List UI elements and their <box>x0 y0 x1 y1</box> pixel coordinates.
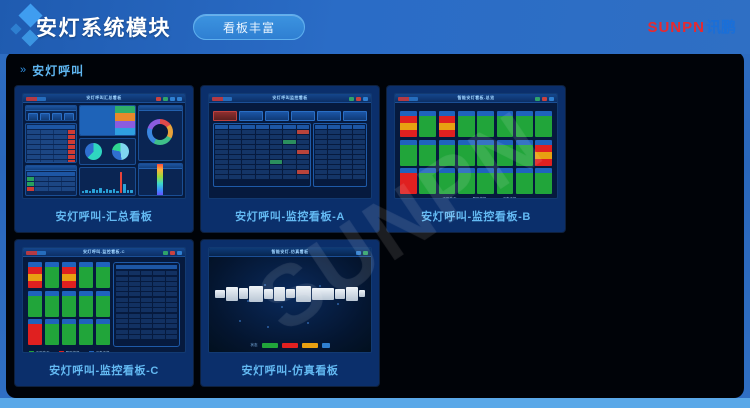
thumb-titlebar: 智能安灯-仿真看板 <box>209 248 371 257</box>
status-tile[interactable] <box>458 168 475 194</box>
status-tile[interactable] <box>79 291 93 317</box>
status-tile[interactable] <box>96 262 110 288</box>
status-tile[interactable] <box>419 140 436 166</box>
status-tile[interactable] <box>439 140 456 166</box>
thumb-body: 正常生产 异常停机 设备待机 <box>395 103 557 198</box>
status-tile[interactable] <box>497 140 514 166</box>
status-tile[interactable] <box>96 319 110 345</box>
status-tile[interactable] <box>497 168 514 194</box>
status-tile[interactable] <box>477 168 494 194</box>
legend-warning: 设备待机 <box>496 197 517 199</box>
status-tile[interactable] <box>45 262 59 288</box>
legend-warning: 设备待机 <box>89 351 110 354</box>
status-tile[interactable] <box>62 262 76 288</box>
status-tile[interactable] <box>45 291 59 317</box>
card-label-monitor-board-b: 安灯呼叫-监控看板-B <box>387 199 565 232</box>
card-summary-board[interactable]: 安灯呼叫汇总看板 <box>15 86 193 232</box>
section-header: » 安灯呼叫 <box>6 52 744 86</box>
thumbnail-monitor-board-b: 智能安灯看板-总览 <box>394 93 558 199</box>
status-tile[interactable] <box>439 168 456 194</box>
thumb-body: 正常生产 异常停机 设备待机 <box>23 257 185 352</box>
feature-pill-button[interactable]: 看板丰富 <box>193 14 305 40</box>
gradient-gauge <box>157 163 163 196</box>
brand-logo: SUNPN 讯鹏 <box>647 16 736 37</box>
tile-row <box>400 140 552 166</box>
app-page: 安灯系统模块 看板丰富 SUNPN 讯鹏 » 安灯呼叫 SUNPN 安灯呼叫汇总… <box>0 0 750 408</box>
card-label-summary-board: 安灯呼叫-汇总看板 <box>15 199 193 232</box>
thumb-titlebar: 安灯呼叫-监控看板-C <box>23 248 185 257</box>
status-tile-grid: 正常生产 异常停机 设备待机 <box>28 262 110 347</box>
status-tile[interactable] <box>535 111 552 137</box>
legend-normal: 正常生产 <box>436 197 457 199</box>
chevron-right-icon: » <box>20 65 26 76</box>
status-tile[interactable] <box>400 140 417 166</box>
detail-table <box>113 262 180 347</box>
legend-caption: 状态 <box>251 343 258 348</box>
thumb-title: 安灯呼叫-监控看板-C <box>83 249 125 255</box>
bar-chart <box>82 171 133 193</box>
status-legend: 正常生产 异常停机 设备待机 <box>397 194 555 199</box>
production-line-model <box>215 284 365 304</box>
card-label-monitor-board-a: 安灯呼叫-监控看板-A <box>201 199 379 232</box>
kpi-panel <box>25 105 77 121</box>
app-header: 安灯系统模块 看板丰富 SUNPN 讯鹏 <box>0 0 750 54</box>
status-tile[interactable] <box>79 262 93 288</box>
status-tile[interactable] <box>458 111 475 137</box>
filter-toolbar <box>211 109 369 123</box>
card-monitor-board-b[interactable]: 智能安灯看板-总览 <box>387 86 565 232</box>
logo-text-secondary: 讯鹏 <box>706 16 736 37</box>
radar-chart-panel <box>138 105 183 161</box>
card-monitor-board-a[interactable]: 安灯呼叫监控看板 <box>201 86 379 232</box>
status-tile[interactable] <box>439 111 456 137</box>
tile-row <box>28 262 110 288</box>
thumbnail-simulation-board: 智能安灯-仿真看板 <box>208 247 372 353</box>
main-table <box>213 123 311 187</box>
diamond-decoration-icon <box>8 4 54 52</box>
thumb-titlebar: 智能安灯看板-总览 <box>395 94 557 103</box>
status-tile[interactable] <box>419 111 436 137</box>
gauge-panel <box>138 163 183 196</box>
card-monitor-board-c[interactable]: 安灯呼叫-监控看板-C <box>15 240 193 386</box>
legend-alarm: 异常停机 <box>59 351 80 354</box>
legend-normal: 正常生产 <box>29 351 50 354</box>
bar-chart-panel <box>79 167 136 196</box>
thumb-title: 安灯呼叫监控看板 <box>272 95 307 101</box>
tile-row <box>400 168 552 194</box>
status-table-panel <box>25 165 77 196</box>
status-tile[interactable] <box>516 168 533 194</box>
status-tile[interactable] <box>96 291 110 317</box>
status-tile[interactable] <box>400 168 417 194</box>
tile-row <box>28 319 110 345</box>
status-tile[interactable] <box>45 319 59 345</box>
donut-chart <box>147 119 173 145</box>
status-tile[interactable] <box>516 111 533 137</box>
status-tile[interactable] <box>28 291 42 317</box>
status-tile[interactable] <box>535 140 552 166</box>
card-label-monitor-board-c: 安灯呼叫-监控看板-C <box>15 353 193 386</box>
tile-row <box>400 111 552 137</box>
thumb-titlebar: 安灯呼叫监控看板 <box>209 94 371 103</box>
side-table <box>313 123 367 187</box>
thumbnail-summary-board: 安灯呼叫汇总看板 <box>22 93 186 199</box>
thumb-title: 安灯呼叫汇总看板 <box>86 95 121 101</box>
status-tile[interactable] <box>497 111 514 137</box>
thumb-titlebar: 安灯呼叫汇总看板 <box>23 94 185 103</box>
status-tile[interactable] <box>79 319 93 345</box>
status-tile[interactable] <box>516 140 533 166</box>
treemap-panel <box>79 105 136 136</box>
legend-alarm: 异常停机 <box>466 197 487 199</box>
simulation-legend: 状态 <box>209 343 371 348</box>
thumb-title: 智能安灯看板-总览 <box>458 95 495 101</box>
status-tile[interactable] <box>28 319 42 345</box>
content-stage: » 安灯呼叫 SUNPN 安灯呼叫汇总看板 <box>6 52 744 398</box>
status-tile[interactable] <box>62 291 76 317</box>
status-tile[interactable] <box>62 319 76 345</box>
alarm-table-panel <box>25 123 77 163</box>
card-grid: 安灯呼叫汇总看板 <box>6 86 744 386</box>
status-tile[interactable] <box>419 168 436 194</box>
tile-row <box>28 291 110 317</box>
thumb-body <box>23 103 185 198</box>
logo-text-primary: SUNPN <box>647 19 705 36</box>
card-simulation-board[interactable]: 智能安灯-仿真看板 <box>201 240 379 386</box>
status-tile[interactable] <box>400 111 417 137</box>
section-title: 安灯呼叫 <box>32 62 84 79</box>
card-label-simulation-board: 安灯呼叫-仿真看板 <box>201 353 379 386</box>
status-legend: 正常生产 异常停机 设备待机 <box>28 348 110 354</box>
table-area <box>211 123 369 189</box>
pie-charts-panel <box>79 138 136 165</box>
pie-chart-2 <box>112 143 129 160</box>
thumbnail-monitor-board-c: 安灯呼叫-监控看板-C <box>22 247 186 353</box>
thumbnail-monitor-board-a: 安灯呼叫监控看板 <box>208 93 372 199</box>
page-title: 安灯系统模块 <box>36 12 171 42</box>
status-tile[interactable] <box>477 111 494 137</box>
thumb-title: 智能安灯-仿真看板 <box>272 249 309 255</box>
pie-chart-1 <box>85 143 102 160</box>
status-tile[interactable] <box>458 140 475 166</box>
status-tile[interactable] <box>535 168 552 194</box>
status-tile[interactable] <box>28 262 42 288</box>
status-tile-grid <box>397 108 555 194</box>
status-tile[interactable] <box>477 140 494 166</box>
thumb-body <box>209 103 371 198</box>
